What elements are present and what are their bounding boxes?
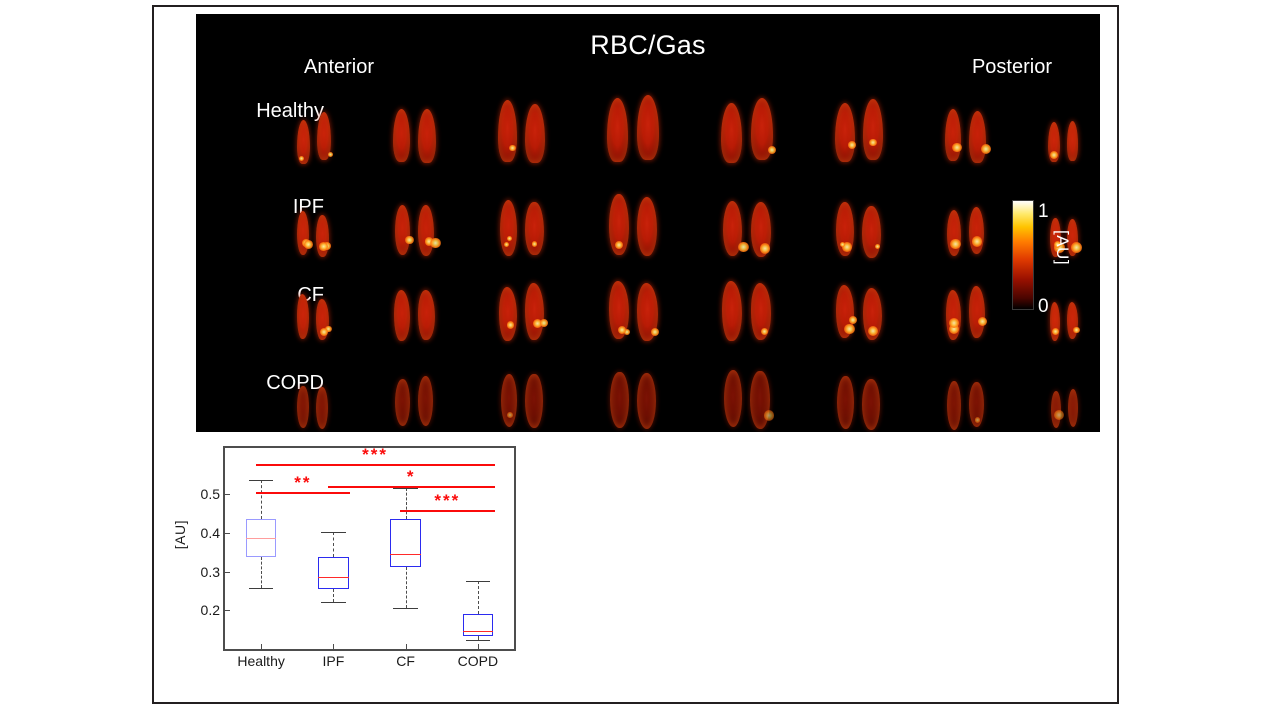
lung-lobe [500,200,518,257]
lung-slice [723,354,777,432]
lung-lobe [724,370,743,427]
lung-slice [498,266,551,344]
lung-lobe [969,286,985,338]
lung-slice [394,354,440,432]
lung-lobe-rim [525,374,542,428]
lung-slice [944,88,993,166]
box-ipf [318,557,348,588]
slice-row-copd [296,354,1086,432]
y-axis-tick-mark [225,572,230,573]
lung-lobe [499,287,517,341]
lung-lobe-rim [498,100,517,162]
significance-asterisks: * [407,467,416,487]
lung-lobe [525,104,545,163]
lung-hotspot [1073,327,1080,334]
colorbar: 1 0 [AU] [1012,200,1074,318]
lung-lobe [297,294,309,339]
lung-lobe-rim [418,205,434,257]
lung-lobe [525,283,544,340]
lung-lobe-rim [947,210,962,257]
lung-lobe [418,376,434,426]
lung-lobe [418,109,436,163]
lung-lobe [969,382,984,427]
lung-lobe-rim [607,98,628,162]
lung-slice [608,182,664,260]
lung-hotspot [761,328,768,335]
lung-lobe-rim [316,387,328,429]
x-axis-tick-label-ipf: IPF [322,653,344,669]
lung-slice [608,266,665,344]
lung-lobe [395,379,410,426]
orientation-label-posterior: Posterior [972,56,1052,79]
lung-hotspot [952,143,962,153]
lung-slice [609,354,663,432]
slice-row-healthy [296,88,1086,166]
x-axis-tick-mark [406,644,407,649]
lung-lobe [498,100,517,162]
lung-lobe-rim [499,287,517,341]
orientation-label-anterior: Anterior [304,56,374,79]
lung-hotspot [540,319,548,327]
lung-slice [497,88,552,166]
lung-lobe [316,215,329,257]
lung-lobe [607,98,628,162]
y-axis-tick-label: 0.5 [201,486,220,502]
lung-hotspot [978,317,988,327]
y-axis-tick-label: 0.4 [201,525,220,541]
lung-lobe-rim [395,205,411,255]
lung-lobe-rim [837,376,854,430]
lung-hotspot [875,244,880,249]
colorbar-max-label: 1 [1038,202,1049,221]
y-axis-tick-mark [225,610,230,611]
lung-lobe [394,290,410,340]
lung-slice [835,182,888,260]
lung-lobe-rim [637,197,657,256]
lung-slice [834,88,890,166]
lung-slice [606,88,666,166]
lung-lobe [297,120,310,164]
lung-hotspot [760,243,771,254]
lung-lobe-rim [862,379,880,429]
lung-hotspot [328,152,333,157]
lung-lobe-rim [610,372,629,428]
lung-lobe [1048,122,1059,162]
lung-lobe-rim [525,104,545,163]
cap-lower [393,608,417,609]
lung-slice [1047,88,1086,166]
lung-slice [836,354,887,432]
lung-slice [945,266,992,344]
lung-slice [296,266,337,344]
median-line [463,631,493,632]
colorbar-min-label: 0 [1038,297,1049,316]
y-axis-tick-mark [225,533,230,534]
lung-lobe-rim [297,294,309,339]
x-axis-tick-label-copd: COPD [458,653,498,669]
lung-lobe-rim [395,379,410,426]
lung-lobe [946,290,961,340]
lung-lobe [637,283,658,340]
whisker-upper [478,581,479,615]
cap-upper [321,532,345,533]
lung-slice [392,88,443,166]
lung-lobe [525,374,542,428]
lung-lobe-rim [525,202,543,256]
lung-lobe-rim [945,109,961,162]
lung-lobe-rim [947,381,961,429]
cap-upper [466,581,490,582]
lung-lobe [750,371,769,429]
lung-lobe [863,288,882,340]
cap-upper [393,488,417,489]
whisker-upper [406,488,407,519]
slice-row-cf [296,266,1086,344]
box-copd [463,614,493,636]
lung-lobe [969,207,984,254]
whisker-lower [333,589,334,603]
lung-lobe [947,381,961,429]
lung-lobe [418,290,435,341]
lung-lobe [837,376,854,430]
slice-row-ipf [296,182,1086,260]
lung-lobe [751,202,771,258]
lung-lobe-rim [722,281,742,342]
lung-slice [721,266,778,344]
lung-lobe [316,299,329,341]
cap-lower [466,640,490,641]
lung-hotspot [651,328,659,336]
lung-lobe [393,109,410,162]
lung-lobe [1068,389,1078,427]
boxplot-axes: 0.20.30.40.5HealthyIPFCFCOPD********* [223,446,516,651]
lung-lobe-rim [525,283,544,340]
lung-lobe-rim [316,215,329,257]
lung-lobe [637,197,657,256]
lung-hotspot [738,242,749,253]
x-axis-tick-label-healthy: Healthy [237,653,284,669]
lung-lobe [297,211,309,255]
lung-slice [393,266,442,344]
lung-lobe [751,98,773,160]
lung-slice [500,354,550,432]
significance-asterisks: ** [294,473,311,493]
x-axis-tick-mark [478,644,479,649]
lung-slice [835,266,889,344]
lung-slice [720,88,780,166]
median-line [318,577,348,578]
significance-asterisks: *** [434,491,460,511]
lung-hotspot [840,242,845,247]
mri-montage-panel: RBC/Gas Anterior Posterior Healthy IPF C… [196,14,1100,432]
lung-lobe-rim [969,286,985,338]
x-axis-tick-label-cf: CF [396,653,415,669]
lung-lobe [297,386,309,428]
lung-lobe-rim [297,386,309,428]
lung-slice [296,182,336,260]
boxplot-y-axis-label: [AU] [172,520,188,549]
cap-upper [249,480,273,481]
significance-asterisks: *** [362,445,388,465]
lung-lobe-rim [394,290,410,340]
lung-hotspot [768,146,776,154]
colorbar-unit-label: [AU] [1052,230,1072,265]
lung-hotspot [405,236,414,245]
lung-hotspot [532,241,538,247]
median-line [246,538,276,539]
lung-lobe-rim [1067,121,1079,161]
cap-lower [321,602,345,603]
lung-hotspot [507,321,515,329]
lung-lobe [609,194,628,255]
lung-hotspot [981,144,991,154]
lung-lobe [395,205,411,255]
lung-slice [296,88,339,166]
lung-hotspot [1050,151,1058,159]
lung-lobe [637,95,659,160]
lung-lobe-rim [835,103,854,162]
lung-lobe [1051,391,1061,428]
y-axis-tick-label: 0.2 [201,602,220,618]
lung-hotspot [509,145,516,152]
lung-hotspot [304,240,313,249]
lung-lobe [836,202,854,256]
lung-lobe [836,285,854,338]
lung-lobe-rim [637,373,656,429]
lung-lobe-rim [500,200,518,257]
median-line [390,554,420,555]
lung-lobe [610,372,629,428]
lung-lobe [751,283,772,340]
lung-lobe [317,112,331,161]
lung-hotspot [949,318,959,328]
whisker-lower [406,567,407,609]
lung-lobe-rim [862,206,881,258]
lung-lobe [418,205,434,257]
lung-lobe-rim [393,109,410,162]
box-cf [390,519,420,567]
lung-lobe [637,373,656,429]
lung-lobe-rim [501,374,518,427]
lung-lobe [969,111,986,163]
lung-lobe [723,201,742,257]
lung-lobe [862,206,881,258]
whisker-upper [333,532,334,558]
x-axis-tick-mark [261,644,262,649]
lung-lobe [609,281,629,340]
lung-lobe [721,103,742,163]
lung-hotspot [430,238,441,249]
lung-hotspot [764,410,774,420]
figure-root: RBC/Gas Anterior Posterior Healthy IPF C… [0,0,1280,720]
lung-lobe [1067,121,1079,161]
lung-lobe-rim [721,103,742,163]
y-axis-tick-label: 0.3 [201,564,220,580]
lung-lobe [863,99,883,160]
lung-lobe [835,103,854,162]
whisker-lower [261,557,262,588]
lung-lobe [501,374,518,427]
lung-lobe [722,281,742,342]
lung-lobe [945,109,961,162]
lung-hotspot [1054,410,1064,420]
y-axis-tick-mark [225,494,230,495]
lung-lobe [947,210,962,257]
lung-lobe-rim [1068,389,1078,427]
lung-lobe [525,202,543,256]
lung-hotspot [299,156,304,161]
colorbar-gradient [1012,200,1034,310]
x-axis-tick-mark [333,644,334,649]
lung-lobe [862,379,880,429]
lung-lobe-rim [637,95,659,160]
lung-lobe-rim [418,109,436,163]
lung-hotspot [848,141,856,149]
lung-slice [946,182,992,260]
lung-lobe-rim [863,99,883,160]
lung-slice [499,182,551,260]
cap-lower [249,588,273,589]
lung-lobe-rim [418,290,435,341]
lung-slice [296,354,335,432]
lung-slice [722,182,778,260]
whisker-upper [261,480,262,519]
lung-slice [1050,354,1086,432]
lung-slice [946,354,991,432]
lung-lobe-rim [418,376,434,426]
lung-lobe [316,387,328,429]
lung-hotspot [844,324,854,334]
lung-lobe-rim [724,370,743,427]
lung-slice [394,182,442,260]
lung-lobe-rim [969,111,986,163]
